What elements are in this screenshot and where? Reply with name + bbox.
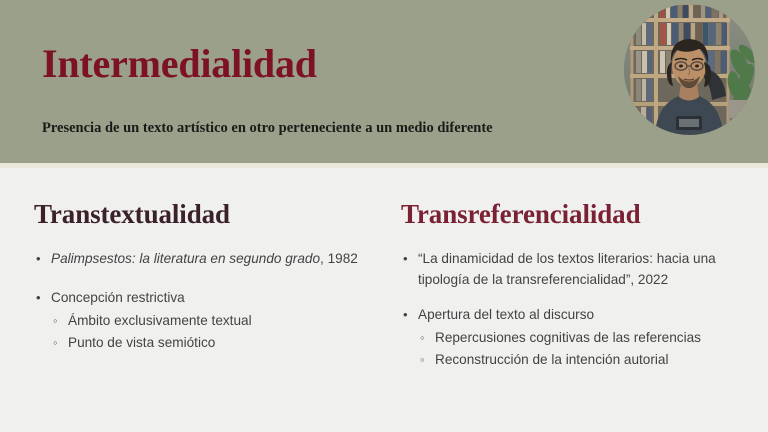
slide-body: Transtextualidad Palimpsestos: la litera… (0, 168, 768, 432)
bullet-list-left: Palimpsestos: la literatura en segundo g… (34, 248, 370, 354)
slide-subtitle: Presencia de un texto artístico en otro … (42, 118, 493, 138)
bullet-text: Concepción restrictiva (51, 290, 185, 305)
sub-bullet-list: Repercusiones cognitivas de las referenc… (401, 327, 756, 371)
webcam-video-bubble[interactable] (624, 4, 755, 135)
bullet-item: Apertura del texto al discurso (401, 304, 756, 325)
sub-bullet-item: Punto de vista semiótico (34, 332, 370, 354)
webcam-frame-image (624, 4, 755, 135)
column-transreferencialidad: Transreferencialidad “La dinamicidad de … (384, 168, 768, 432)
column-heading-right: Transreferencialidad (401, 168, 756, 230)
column-heading-left: Transtextualidad (34, 168, 370, 230)
sub-bullet-list: Ámbito exclusivamente textual Punto de v… (34, 310, 370, 354)
presentation-slide: Intermedialidad Presencia de un texto ar… (0, 0, 768, 432)
bullet-text: “La dinamicidad de los textos literarios… (418, 251, 716, 287)
bullet-item: Palimpsestos: la literatura en segundo g… (34, 248, 370, 269)
bullet-text: , 1982 (320, 251, 358, 266)
sub-bullet-item: Repercusiones cognitivas de las referenc… (401, 327, 756, 349)
bullet-group: “La dinamicidad de los textos literarios… (401, 248, 756, 290)
bullet-text: Apertura del texto al discurso (418, 307, 594, 322)
slide-title: Intermedialidad (42, 40, 317, 88)
sub-bullet-item: Ámbito exclusivamente textual (34, 310, 370, 332)
bullet-group: Concepción restrictiva Ámbito exclusivam… (34, 287, 370, 354)
column-transtextualidad: Transtextualidad Palimpsestos: la litera… (0, 168, 384, 432)
bullet-item: Concepción restrictiva (34, 287, 370, 308)
bullet-emphasis-text: Palimpsestos: la literatura en segundo g… (51, 251, 320, 266)
sub-bullet-item: Reconstrucción de la intención autorial (401, 349, 756, 371)
bullet-item: “La dinamicidad de los textos literarios… (401, 248, 756, 290)
bullet-list-right: “La dinamicidad de los textos literarios… (401, 248, 756, 371)
bullet-group: Palimpsestos: la literatura en segundo g… (34, 248, 370, 269)
bullet-group: Apertura del texto al discurso Repercusi… (401, 304, 756, 371)
